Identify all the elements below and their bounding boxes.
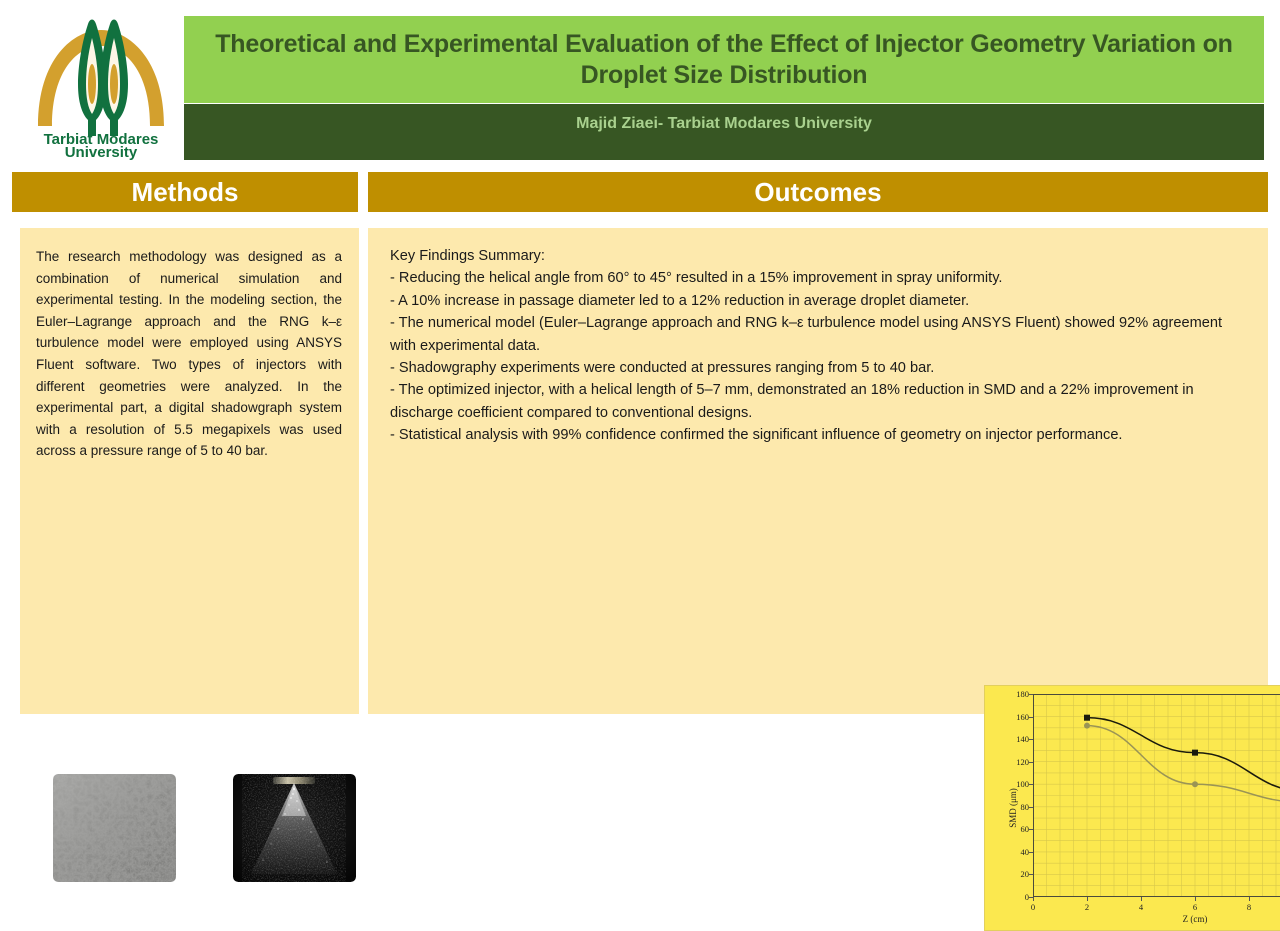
chart-y-axis-title: SMD (μm) [1008,788,1018,828]
outcomes-panel: Key Findings Summary: - Reducing the hel… [368,228,1268,714]
chart-y-tick-label: 60 [1021,824,1030,834]
tarbiat-modares-university-logo: Tarbiat Modares University [26,8,176,160]
chart-y-tick [1029,784,1033,785]
chart-y-tick-label: 180 [1016,689,1029,699]
chart-data-point [1192,750,1198,756]
outcomes-section-header: Outcomes [368,172,1268,212]
chart-svg [1033,694,1280,897]
chart-x-tick [1249,897,1250,901]
chart-y-tick [1029,762,1033,763]
chart-y-tick [1029,717,1033,718]
chart-y-tick-label: 140 [1016,734,1029,744]
chart-x-tick-label: 0 [1031,902,1035,912]
poster-title: Theoretical and Experimental Evaluation … [209,29,1239,90]
chart-x-tick-label: 2 [1085,902,1089,912]
chart-y-tick-label: 120 [1016,757,1029,767]
methods-panel: The research methodology was designed as… [20,228,359,714]
methods-section-header: Methods [12,172,358,212]
poster-subtitle-bar: Majid Ziaei- Tarbiat Modares University [184,104,1264,160]
chart-y-tick [1029,694,1033,695]
chart-data-point [1084,723,1090,729]
chart-x-tick-label: 6 [1193,902,1197,912]
chart-x-tick [1195,897,1196,901]
chart-x-tick-label: 4 [1139,902,1143,912]
spray-shadowgraph-image [233,774,356,882]
methods-body-text: The research methodology was designed as… [36,246,342,462]
outcomes-heading-label: Outcomes [754,177,881,208]
outcomes-line: - Statistical analysis with 99% confiden… [390,424,1250,446]
chart-y-tick-label: 20 [1021,869,1030,879]
outcomes-line: - The numerical model (Euler–Lagrange ap… [390,312,1250,357]
outcomes-line: - Reducing the helical angle from 60° to… [390,267,1250,289]
chart-y-tick-label: 80 [1021,802,1030,812]
chart-y-tick [1029,874,1033,875]
chart-x-tick [1033,897,1034,901]
chart-y-tick [1029,829,1033,830]
chart-y-tick [1029,852,1033,853]
chart-y-tick [1029,739,1033,740]
chart-y-tick-label: 100 [1016,779,1029,789]
chart-data-point [1192,781,1198,787]
droplet-deposition-photo [53,774,176,882]
outcomes-line: Key Findings Summary: [390,245,1250,267]
logo-line2: University [65,144,138,160]
poster-author: Majid Ziaei- Tarbiat Modares University [576,115,872,133]
chart-x-tick [1087,897,1088,901]
chart-y-tick [1029,807,1033,808]
chart-x-tick-label: 8 [1247,902,1251,912]
poster-header: Tarbiat Modares University Theoretical a… [0,0,1280,163]
outcomes-line: - The optimized injector, with a helical… [390,379,1250,424]
methods-heading-label: Methods [132,177,239,208]
chart-plot-area: NumericalExperimental 020406080100120140… [1033,694,1280,897]
spray-shadowgraph-photo [233,774,356,882]
logo-graphic: Tarbiat Modares University [26,8,176,160]
chart-y-tick-label: 40 [1021,847,1030,857]
outcomes-line: - Shadowgraphy experiments were conducte… [390,357,1250,379]
chart-x-axis-title: Z (cm) [1033,914,1280,924]
poster-title-bar: Theoretical and Experimental Evaluation … [184,16,1264,103]
outcomes-body-text: Key Findings Summary: - Reducing the hel… [390,245,1250,447]
chart-x-tick [1141,897,1142,901]
chart-y-tick-label: 160 [1016,712,1029,722]
smd-vs-z-chart: SMD (μm) Z (cm) NumericalExperimental 02… [984,685,1280,931]
droplet-deposition-image [53,774,176,882]
outcomes-line: - A 10% increase in passage diameter led… [390,290,1250,312]
